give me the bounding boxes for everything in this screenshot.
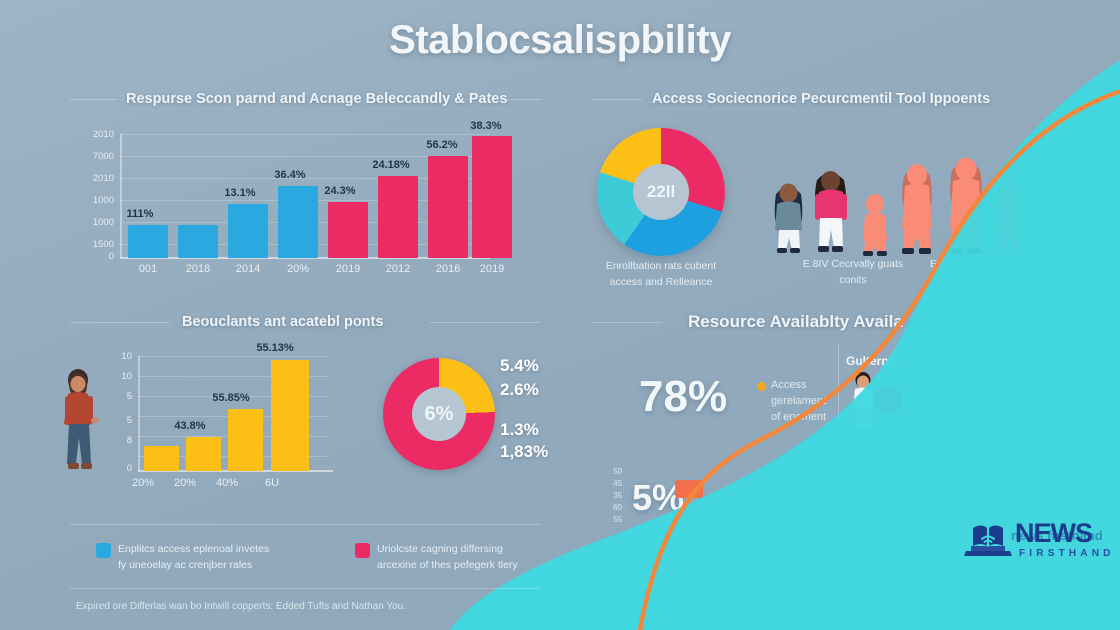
y-tick-label: 1000 (70, 217, 114, 228)
pie-heading: Access Sociecnorice Pecurcmentil Tool Ip… (652, 91, 990, 107)
donut-side-label-2: 2.6% (500, 379, 539, 402)
x-tick-label: 2019 (468, 263, 516, 275)
divider-second-chart-right (430, 322, 540, 323)
y-tick-label: 1500 (70, 239, 114, 250)
bar-blue-3 (228, 204, 268, 258)
donut-side-label-3: 1.3% (500, 419, 539, 442)
bar-value-label: 36.4% (266, 169, 314, 181)
y-tick-label: 1000 (70, 195, 114, 206)
bar-value-label: 24.18% (363, 159, 419, 171)
bar-value-label: 38.3% (460, 120, 512, 132)
bar-chart-heading: Respurse Scon parnd and Acnage Beleccand… (126, 91, 507, 107)
bar-pink-4 (472, 136, 512, 258)
pie-caption: Enrollbation rats cubent access and Rell… (578, 259, 744, 291)
y-tick-label: 2010 (70, 173, 114, 184)
y-tick-label: 7000 (70, 151, 114, 162)
bar-value-label: 24.3% (316, 185, 364, 197)
person-with-globe (846, 372, 904, 432)
person-silhouette-4 (992, 174, 1024, 258)
bar-pink-1 (328, 202, 368, 258)
divider-legend-top (70, 524, 540, 525)
donut-center-label-right: 22ll (633, 164, 689, 220)
bar-value-label: 55.85% (204, 392, 258, 404)
bar-yellow-4 (271, 360, 309, 471)
bar-yellow-3 (228, 409, 263, 471)
news-firsthand-logo[interactable]: news firsthand NEWS FIRSTHAND (963, 516, 1115, 572)
bar-value-label: 13.1% (216, 187, 264, 199)
person-silhouette-2 (898, 160, 936, 258)
x-tick-label: 20% (274, 263, 322, 275)
x-tick-label: 6U (249, 477, 295, 489)
mini-tick-label: 60 (604, 503, 622, 512)
people-caption: E.8IV Cecrvally guats conits (778, 257, 928, 289)
divider-resource-panel (838, 344, 839, 464)
bar-value-label: 111% (116, 208, 164, 220)
x-tick-label: 2019 (324, 263, 372, 275)
resource-caption: Gulterng a (846, 352, 966, 370)
divider-pie-left (592, 99, 642, 100)
people-caption-right: Ep (930, 257, 990, 273)
bar-pink-2 (378, 176, 418, 258)
bar-yellow-2 (186, 437, 221, 471)
x-tick-label: 20% (120, 477, 166, 489)
logo-firsthand-text: FIRSTHAND (1019, 548, 1115, 559)
logo-news-text: NEWS (1015, 518, 1092, 549)
legend-text-blue: Enplitcs access eplenoal invetes fy uneo… (118, 541, 328, 574)
x-tick-label: 001 (124, 263, 172, 275)
mini-tick-label: 35 (604, 491, 622, 500)
y-tick-label: 8 (100, 435, 132, 446)
bar-pink-3 (428, 156, 468, 258)
bar-blue-2 (178, 225, 218, 258)
bar-blue-1 (128, 225, 168, 258)
x-tick-label: 2014 (224, 263, 272, 275)
y-tick-label: 5 (100, 391, 132, 402)
bar-yellow-1 (144, 446, 179, 471)
orange-flag-marker (675, 480, 703, 498)
x-tick-label: 2018 (174, 263, 222, 275)
y-tick-label: 5 (100, 415, 132, 426)
page-title: Stablocsalispbility (0, 18, 1120, 63)
footer-credit: Expired ore Differlas wan bo Intwill cop… (76, 601, 406, 612)
y-tick-label: 2010 (70, 129, 114, 140)
mini-tick-label: 55 (604, 515, 622, 524)
y-tick-label: 0 (100, 463, 132, 474)
mini-tick-label: 50 (604, 467, 622, 476)
person-girl-pink (810, 166, 852, 258)
stat-bullet-icon (757, 382, 766, 391)
donut-center-label-left: 6% (412, 387, 466, 441)
second-chart-heading: Beouclants ant acatebl ponts (182, 314, 383, 330)
person-illustration-left (58, 368, 100, 480)
person-silhouette-3 (946, 154, 986, 258)
mini-tick-label: 45 (604, 479, 622, 488)
donut-side-label-1: 5.4% (500, 355, 539, 378)
x-tick-label: 2016 (424, 263, 472, 275)
y-tick-label: 0 (70, 251, 114, 262)
people-illustration-group (770, 152, 980, 257)
bar-blue-4 (278, 186, 318, 258)
bar-chart-main: 2010 7000 2010 1000 1000 1500 0 111% 13.… (70, 130, 490, 258)
person-girl-dark (770, 180, 808, 258)
legend-swatch-blue (96, 543, 111, 558)
laptop-wifi-book-icon (963, 518, 1013, 560)
divider-bar-chart-left (70, 99, 118, 100)
x-tick-label: 2012 (374, 263, 422, 275)
person-silhouette-1 (860, 194, 890, 258)
donut-side-label-4: 1,83% (500, 441, 548, 464)
infographic-canvas: Stablocsalispbility Respurse Scon parnd … (0, 0, 1120, 630)
bar-chart-orange: 10 10 5 5 8 0 43.8% 55.85% 55.13% 20% 20… (100, 352, 330, 472)
bar-value-label: 55.13% (248, 342, 302, 354)
y-tick-label: 10 (100, 371, 132, 382)
y-tick-label: 10 (100, 351, 132, 362)
bar-value-label: 43.8% (166, 420, 214, 432)
x-tick-label: 20% (162, 477, 208, 489)
resource-heading: Resource Availablty Availa (688, 312, 903, 332)
divider-footer (70, 588, 540, 589)
main-stat-value: 78% (639, 372, 727, 422)
legend-swatch-pink (355, 543, 370, 558)
legend-text-pink: Uriolcste cagning differsing arcexine of… (377, 541, 587, 574)
divider-resource-left (592, 322, 662, 323)
x-tick-label: 40% (204, 477, 250, 489)
bar-value-label: 56.2% (416, 139, 468, 151)
divider-second-chart-left (70, 322, 170, 323)
resource-caption-sub: C (846, 436, 916, 454)
